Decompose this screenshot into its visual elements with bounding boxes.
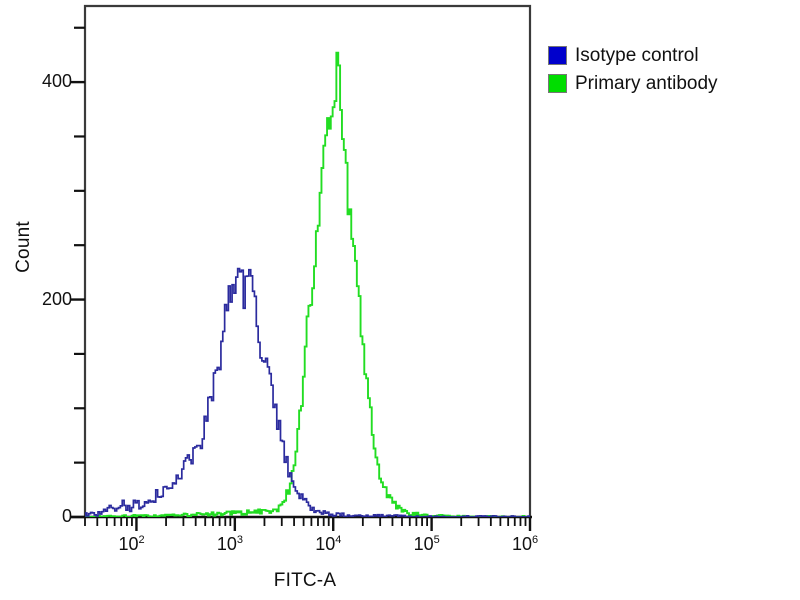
- y-axis-title-wrapper: Count: [13, 197, 43, 297]
- legend: Isotype control Primary antibody: [548, 42, 794, 98]
- x-tick-base-4: 10: [512, 534, 532, 554]
- x-tick-base-2: 10: [315, 534, 335, 554]
- x-tick-label-1: 103: [217, 534, 243, 555]
- flow-cytometry-histogram: 0 200 400 102103104105106 FITC-A Count I…: [0, 0, 800, 600]
- x-tick-label-3: 105: [414, 534, 440, 555]
- x-tick-base-0: 10: [118, 534, 138, 554]
- y-tick-label-0: 0: [26, 506, 72, 527]
- legend-swatch-primary-antibody: [548, 74, 567, 93]
- y-tick-label-400: 400: [26, 71, 72, 92]
- x-tick-label-2: 104: [315, 534, 341, 555]
- x-tick-exponent-3: 5: [434, 534, 440, 546]
- legend-item-primary-antibody[interactable]: Primary antibody: [548, 70, 794, 97]
- legend-label-primary-antibody: Primary antibody: [575, 73, 718, 95]
- x-tick-exponent-2: 4: [335, 534, 341, 546]
- x-tick-label-0: 102: [118, 534, 144, 555]
- trace-primary-antibody: [85, 53, 530, 517]
- legend-swatch-isotype-control: [548, 46, 567, 65]
- x-tick-label-4: 106: [512, 534, 538, 555]
- legend-item-isotype-control[interactable]: Isotype control: [548, 42, 794, 69]
- plot-frame: [71, 6, 532, 517]
- histogram-traces: [85, 53, 530, 517]
- y-axis-ticks: [71, 28, 85, 517]
- y-axis-title: Count: [13, 197, 35, 297]
- x-tick-exponent-1: 3: [237, 534, 243, 546]
- x-tick-base-1: 10: [217, 534, 237, 554]
- x-tick-exponent-4: 6: [532, 534, 538, 546]
- x-axis-ticks: [85, 517, 530, 531]
- x-tick-base-3: 10: [414, 534, 434, 554]
- x-tick-exponent-0: 2: [138, 534, 144, 546]
- x-axis-title: FITC-A: [0, 570, 610, 592]
- legend-label-isotype-control: Isotype control: [575, 45, 699, 67]
